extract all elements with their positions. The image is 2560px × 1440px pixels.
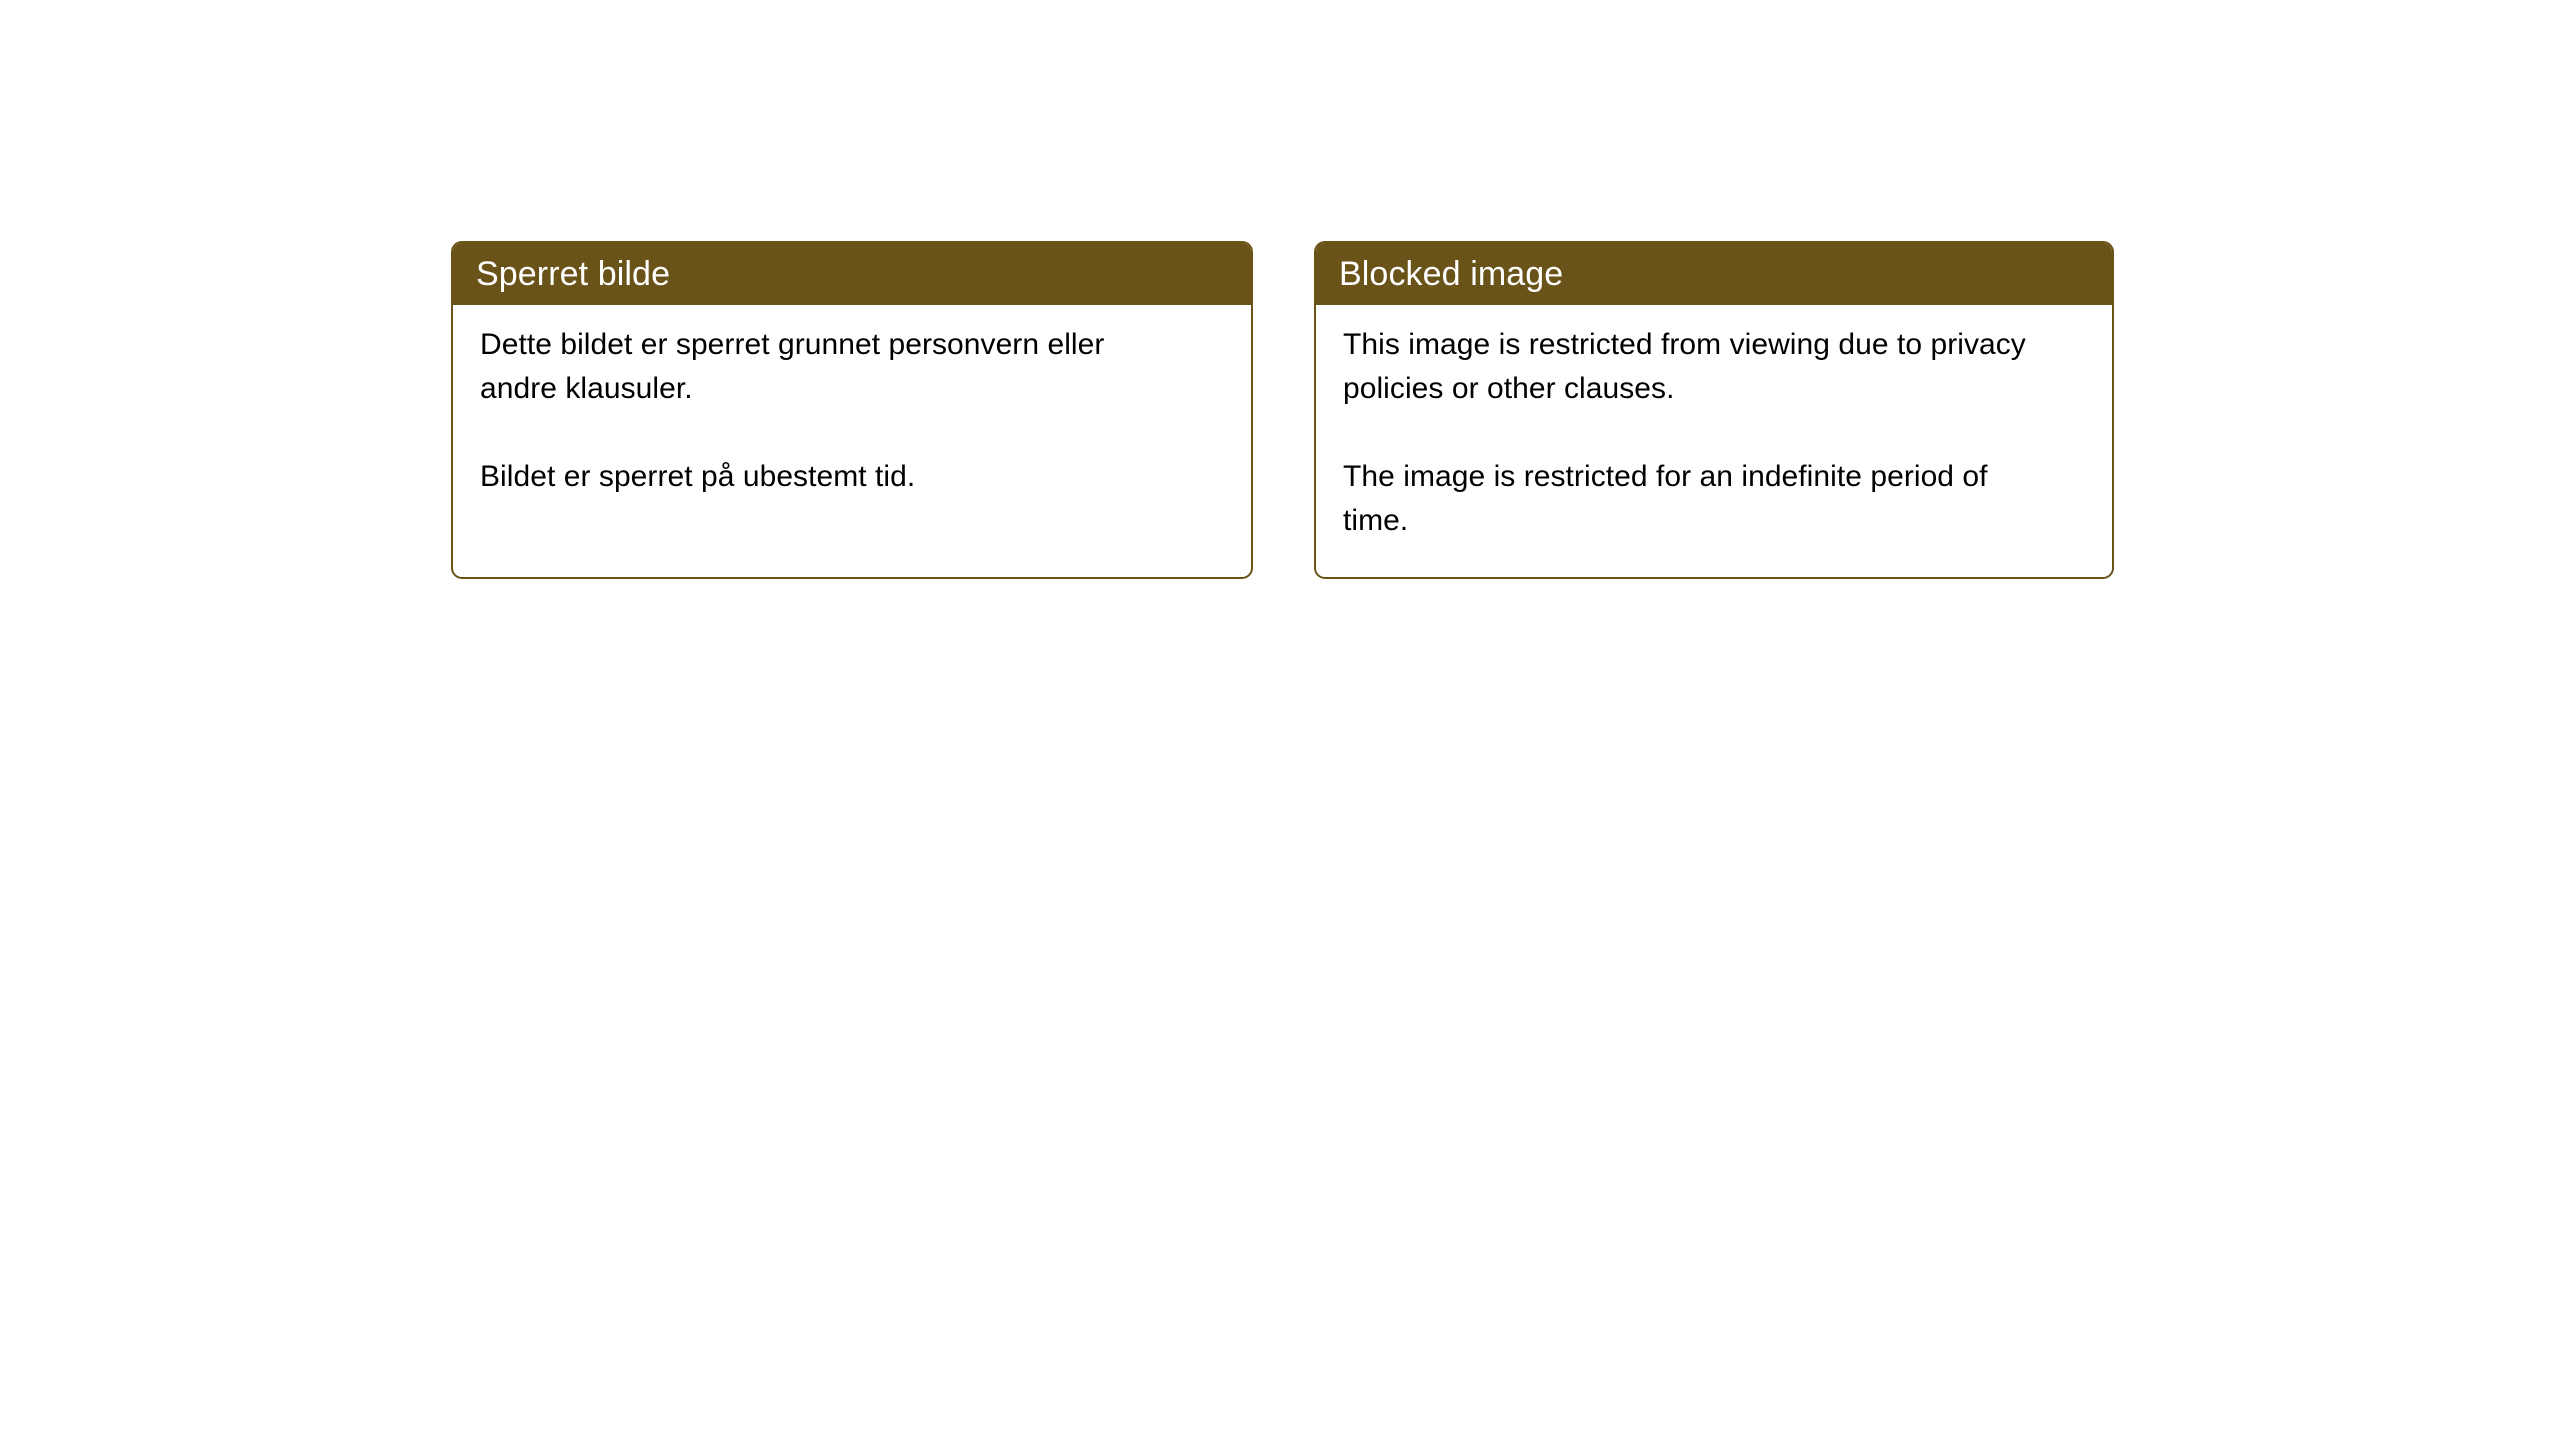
card-body-english: This image is restricted from viewing du…	[1316, 305, 2112, 577]
notice-cards-container: Sperret bilde Dette bildet er sperret gr…	[451, 241, 2114, 579]
card-paragraph-primary-english: This image is restricted from viewing du…	[1343, 323, 2043, 411]
card-paragraph-primary-norwegian: Dette bildet er sperret grunnet personve…	[480, 323, 1180, 411]
blocked-image-notice-card-english: Blocked image This image is restricted f…	[1314, 241, 2114, 579]
card-body-norwegian: Dette bildet er sperret grunnet personve…	[453, 305, 1251, 577]
card-paragraph-secondary-norwegian: Bildet er sperret på ubestemt tid.	[480, 455, 1180, 499]
blocked-image-notice-card-norwegian: Sperret bilde Dette bildet er sperret gr…	[451, 241, 1253, 579]
card-paragraph-secondary-english: The image is restricted for an indefinit…	[1343, 455, 2043, 543]
card-header-english: Blocked image	[1316, 243, 2112, 305]
card-header-norwegian: Sperret bilde	[453, 243, 1251, 305]
card-title-norwegian: Sperret bilde	[476, 255, 670, 293]
card-title-english: Blocked image	[1339, 255, 1563, 293]
